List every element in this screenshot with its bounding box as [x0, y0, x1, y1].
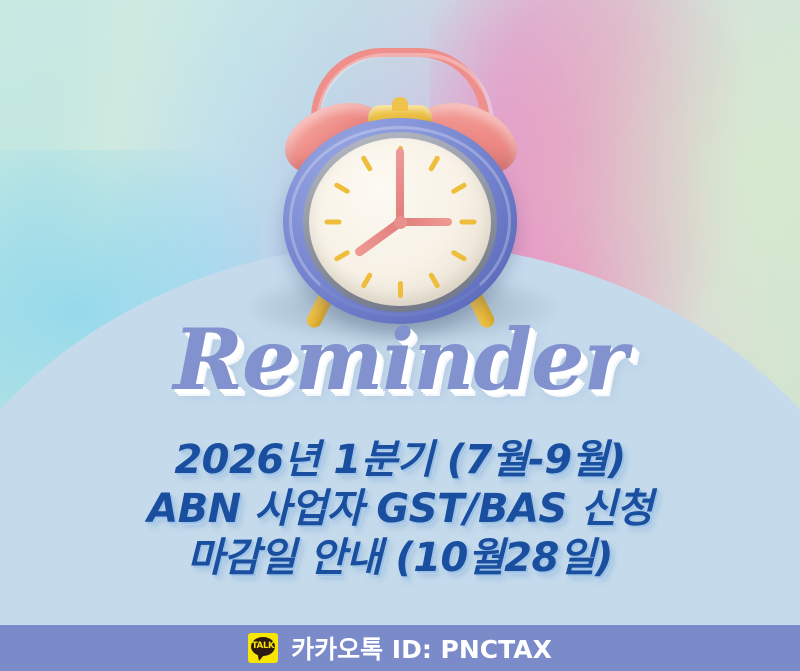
headline-block: 2026년 1분기 (7월-9월) ABN 사업자 GST/BAS 신청 마감일… — [0, 436, 800, 582]
clock-tick — [360, 272, 373, 289]
kakaotalk-icon[interactable]: TALK — [248, 633, 278, 663]
clock-center-hub — [394, 216, 407, 229]
clock-face — [309, 138, 491, 306]
clock-second-hand — [400, 218, 452, 226]
clock-tick — [360, 155, 373, 172]
headline-line-2: ABN 사업자 GST/BAS 신청 — [0, 485, 800, 534]
clock-tick — [450, 182, 467, 195]
footer-bar: TALK 카카오톡 ID: PNCTAX — [0, 625, 800, 671]
clock-tick — [427, 155, 440, 172]
clock-tick — [450, 249, 467, 262]
clock-minute-hand — [396, 148, 404, 222]
clock-tick — [427, 272, 440, 289]
headline-line-3: 마감일 안내 (10월28일) — [0, 534, 800, 583]
alarm-clock-icon — [255, 20, 545, 320]
clock-tick — [324, 220, 341, 225]
clock-tick — [333, 182, 350, 195]
clock-tick — [333, 249, 350, 262]
kakaotalk-badge-label: TALK — [252, 642, 275, 651]
clock-tick — [459, 220, 476, 225]
page-title: Reminder — [0, 318, 800, 402]
reminder-poster: Reminder 2026년 1분기 (7월-9월) ABN 사업자 GST/B… — [0, 0, 800, 671]
speech-bubble-icon: TALK — [251, 637, 275, 656]
footer-contact-text: 카카오톡 ID: PNCTAX — [291, 630, 552, 666]
headline-line-1: 2026년 1분기 (7월-9월) — [0, 436, 800, 485]
clock-tick — [398, 281, 403, 298]
